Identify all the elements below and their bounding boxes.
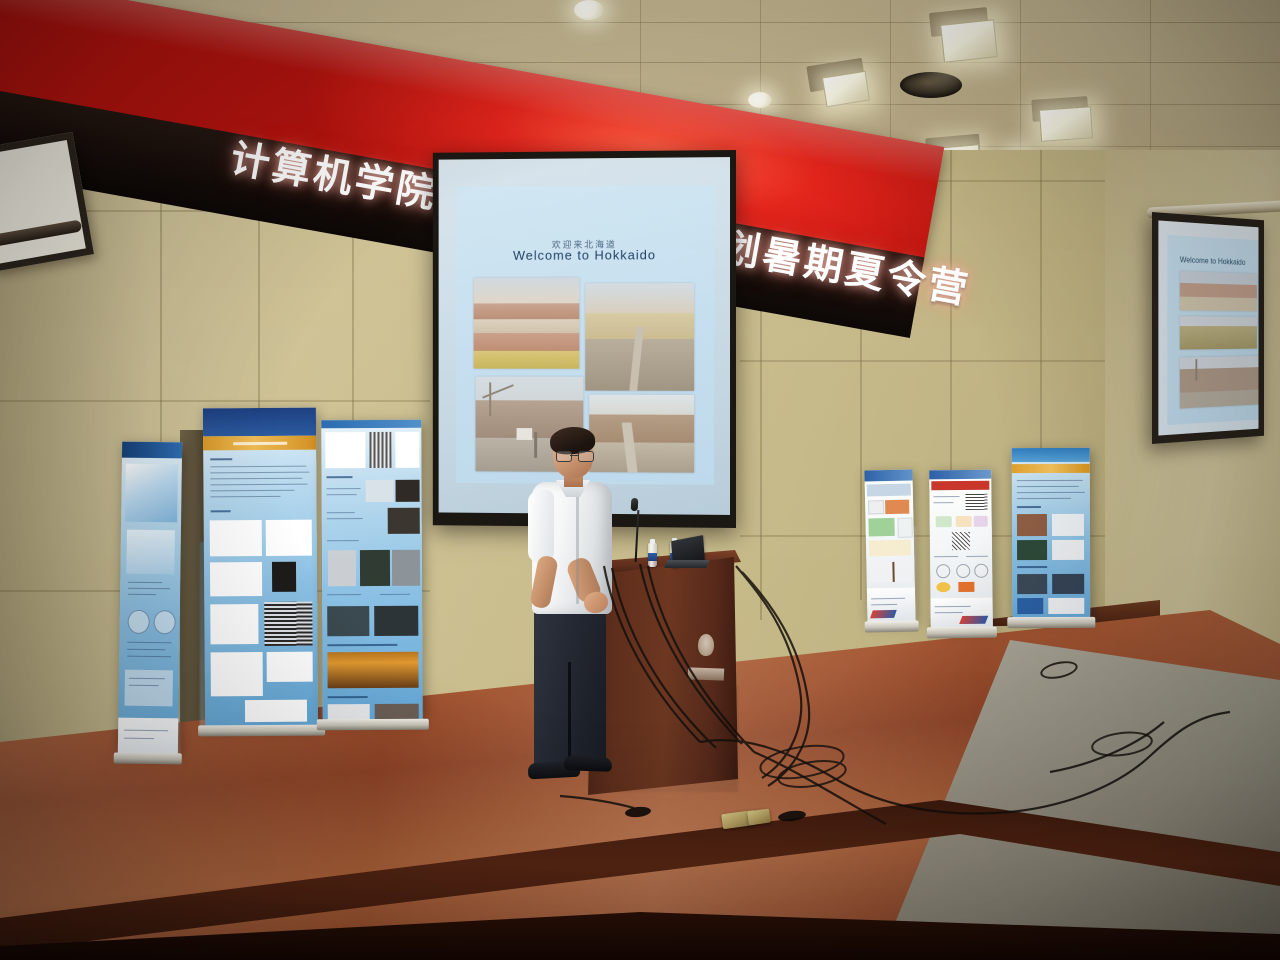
rollup-banner-4-base (865, 620, 919, 632)
lecture-hall-photo: 计算机学院2016年优研计划暑期夏令营 欢迎来北海道 Welcome to Ho… (0, 0, 1280, 960)
rollup-banner-3-header (321, 420, 421, 429)
speaker-leg-seam (568, 662, 571, 768)
slide-title-english: Welcome to Hokkaido (456, 247, 714, 263)
slide-photo-coastal-road (474, 277, 580, 368)
ceiling-downlight (574, 0, 604, 20)
rollup-banner-2 (203, 408, 318, 727)
rollup-banner-1-header (122, 442, 182, 459)
speaker-person (520, 430, 630, 800)
side-slide-title-english: Welcome to Hokkaido (1180, 255, 1246, 267)
bottle-cap (650, 539, 655, 544)
rollup-banner-5-base (927, 627, 997, 639)
slide-photo-highway-pass (585, 283, 694, 391)
side-projection-screen: Welcome to Hokkaido (1152, 212, 1264, 444)
microphone-right-head (631, 498, 639, 511)
rollup-banner-5 (929, 470, 993, 629)
rollup-banner-2-base (198, 725, 325, 737)
side-slide-photo-building (1180, 356, 1259, 409)
speaker-shirt-placket (576, 492, 579, 604)
rollup-banner-4-header (864, 470, 912, 482)
glasses-icon (556, 451, 592, 460)
laptop-base[interactable] (664, 560, 710, 568)
rollup-banner-4 (864, 470, 915, 623)
rollup-banner-3 (321, 420, 423, 721)
rollup-banner-6-base (1008, 617, 1095, 628)
rollup-banner-1 (118, 442, 182, 755)
water-bottle-left (648, 543, 657, 567)
rollup-banner-3-base (317, 719, 429, 731)
speaker-sleeve-left (528, 490, 554, 562)
lectern-emblem (698, 634, 714, 656)
ceiling-vent (900, 72, 962, 98)
side-presentation-slide: Welcome to Hokkaido (1167, 235, 1258, 425)
rollup-banner-6-header (1012, 464, 1090, 473)
rollup-banner-5-header (929, 470, 991, 480)
side-slide-photo-coastal (1180, 271, 1257, 311)
bottle-label (648, 553, 657, 561)
ceiling-spotlight (822, 71, 870, 108)
side-screen-surface: Welcome to Hokkaido (1158, 220, 1258, 435)
ceiling-spotlight (1039, 106, 1093, 142)
rollup-banner-6 (1012, 448, 1091, 618)
ceiling-spotlight (940, 19, 998, 62)
speaker-shoe-right (564, 755, 612, 772)
rollup-banner-1-base (114, 753, 181, 765)
lectern-name-plate (688, 667, 724, 680)
side-slide-photo-hill (1180, 316, 1257, 349)
ceiling-downlight (748, 92, 772, 108)
